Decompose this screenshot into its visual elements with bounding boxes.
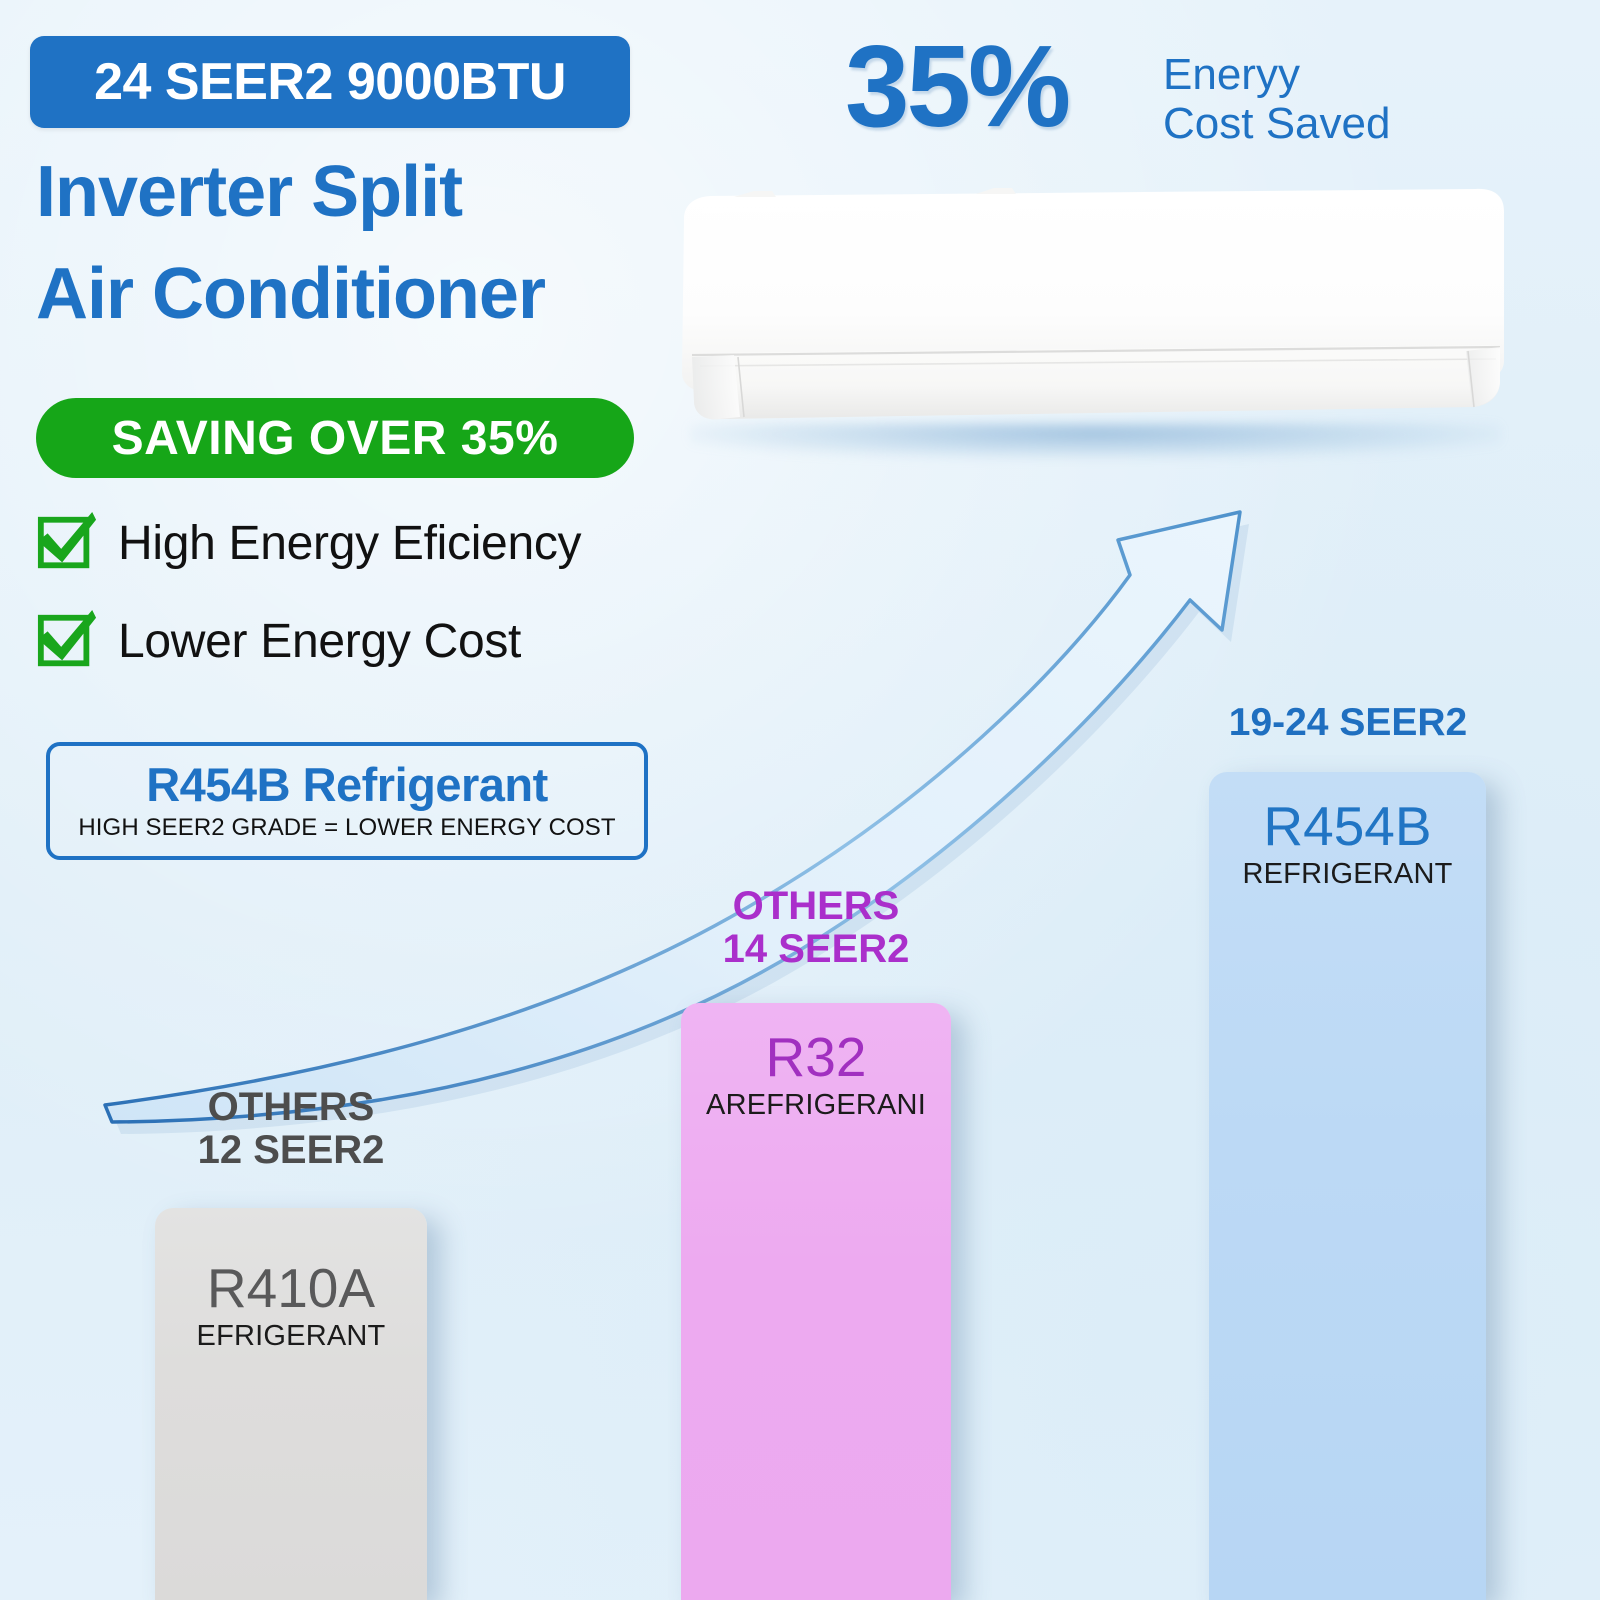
bar-sub-1: EFRIGERANT (155, 1320, 427, 1353)
bar-r32: R32 AREFRIGERANI (681, 1003, 951, 1600)
bar-sub-3: REFRIGERANT (1209, 858, 1486, 891)
page-title-line1: Inverter Split (36, 156, 462, 228)
bar-caption-1: OTHERS 12 SEER2 (155, 1086, 427, 1172)
bar-code-1: R410A (155, 1256, 427, 1320)
spec-badge: 24 SEER2 9000BTU (30, 36, 630, 128)
saving-badge-label: SAVING OVER 35% (112, 411, 559, 466)
bar-caption-2: OTHERS 14 SEER2 (671, 885, 961, 971)
check-box-icon (36, 610, 98, 672)
feature-label-1: High Energy Eficiency (118, 516, 581, 571)
bar-r454b: R454B REFRIGERANT (1209, 772, 1486, 1600)
check-box-icon (36, 512, 98, 574)
feature-item-2: Lower Energy Cost (36, 610, 521, 672)
wall-mounted-split-ac-unit (676, 185, 1506, 455)
bar-caption-3: 19-24 SEER2 (1190, 702, 1506, 744)
bar-sub-2: AREFRIGERANI (681, 1089, 951, 1122)
percent-note: Eneryy Cost Saved (1163, 50, 1390, 149)
page-title-line2: Air Conditioner (36, 258, 545, 330)
saving-badge: SAVING OVER 35% (36, 398, 634, 478)
refrigerant-callout: R454B Refrigerant HIGH SEER2 GRADE = LOW… (46, 742, 648, 860)
feature-item-1: High Energy Eficiency (36, 512, 581, 574)
refrigerant-subtitle: HIGH SEER2 GRADE = LOWER ENERGY COST (78, 814, 615, 842)
ac-unit-illustration (676, 185, 1506, 433)
spec-badge-label: 24 SEER2 9000BTU (94, 52, 566, 112)
percent-headline: 35% (845, 28, 1068, 144)
bar-code-3: R454B (1209, 794, 1486, 858)
bar-r410a: R410A EFRIGERANT (155, 1208, 427, 1600)
infographic-canvas: OTHERS 12 SEER2 R410A EFRIGERANT OTHERS … (0, 0, 1600, 1600)
bar-code-2: R32 (681, 1025, 951, 1089)
feature-label-2: Lower Energy Cost (118, 614, 521, 669)
refrigerant-title: R454B Refrigerant (146, 760, 548, 809)
